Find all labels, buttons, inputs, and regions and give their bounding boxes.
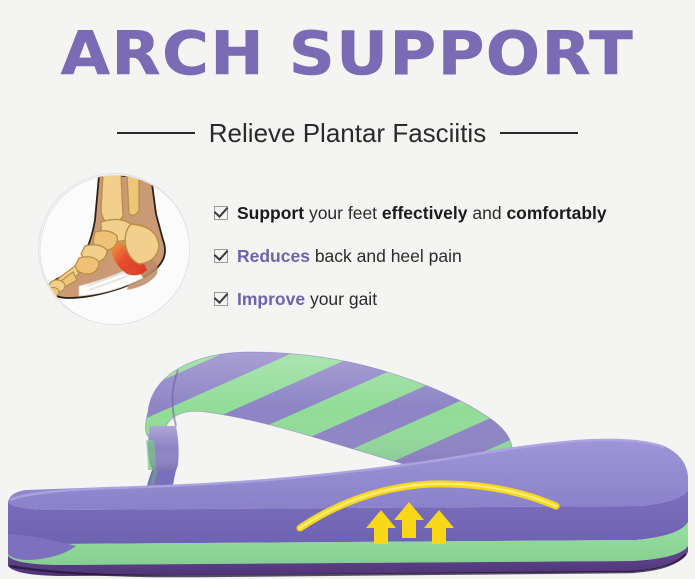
- checked-checkbox-icon: [214, 249, 228, 263]
- divider-rule-left: [117, 132, 195, 134]
- product-infographic-page: ARCH SUPPORT Relieve Plantar Fasciitis: [0, 0, 695, 579]
- product-image-sandal: [0, 330, 695, 579]
- checked-checkbox-icon: [214, 206, 228, 220]
- list-item: Reduces back and heel pain: [214, 234, 684, 277]
- foot-anatomy-illustration: [38, 173, 190, 325]
- list-item: Improve your gait: [214, 277, 684, 320]
- list-item: Support your feet effectively and comfor…: [214, 191, 684, 234]
- benefit-1-seg-0: Support: [237, 203, 304, 223]
- checked-checkbox-icon: [214, 292, 228, 306]
- benefit-1-seg-3: and: [468, 203, 507, 223]
- benefit-3-seg-1: your gait: [305, 289, 377, 309]
- benefit-1-seg-2: effectively: [382, 203, 468, 223]
- benefit-text-1: Support your feet effectively and comfor…: [237, 203, 607, 223]
- benefit-1-seg-4: comfortably: [506, 203, 606, 223]
- benefit-text-3: Improve your gait: [237, 289, 377, 309]
- divider-rule-right: [500, 132, 578, 134]
- benefit-1-seg-1: your feet: [304, 203, 382, 223]
- benefit-text-2: Reduces back and heel pain: [237, 246, 462, 266]
- subtitle-row: Relieve Plantar Fasciitis: [0, 118, 695, 148]
- page-subtitle: Relieve Plantar Fasciitis: [209, 118, 486, 148]
- page-title: ARCH SUPPORT: [0, 24, 695, 84]
- benefit-3-seg-0: Improve: [237, 289, 305, 309]
- benefits-list: Support your feet effectively and comfor…: [214, 191, 684, 320]
- benefit-2-seg-0: Reduces: [237, 246, 310, 266]
- benefit-2-seg-1: back and heel pain: [310, 246, 462, 266]
